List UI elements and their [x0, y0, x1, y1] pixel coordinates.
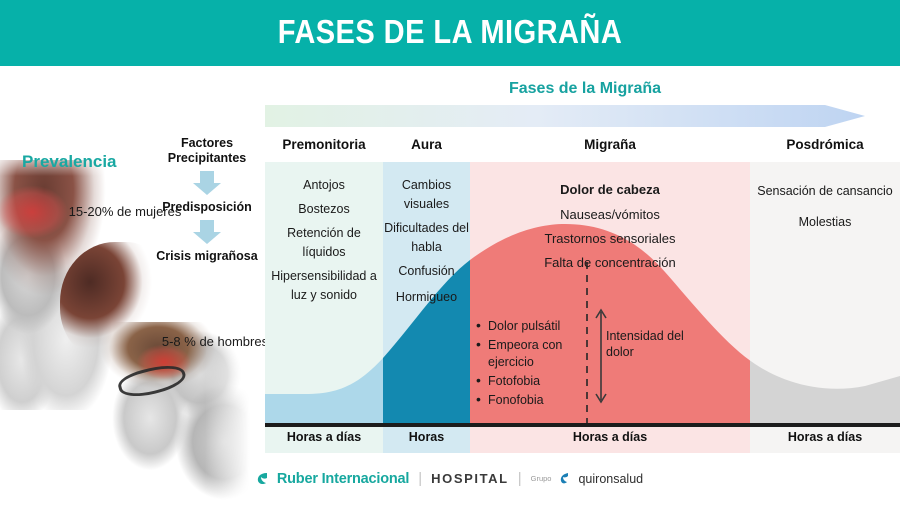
- bullet-fotofobia: Fotofobia: [476, 373, 601, 390]
- flow-step-factores: Factores Precipitantes: [148, 136, 266, 166]
- item-sensacion-cansancio: Sensación de cansancio: [750, 182, 900, 201]
- duration-premonitoria: Horas a días: [265, 430, 383, 444]
- item-nauseas: Nauseas/vómitos: [470, 205, 750, 224]
- phase-items-premonitoria: Antojos Bostezos Retención de líquidos H…: [265, 176, 383, 305]
- phase-bullets-migrana: Dolor pulsátil Empeora con ejercicio Fot…: [476, 318, 601, 411]
- item-dificultades-habla: Dificultades del habla: [379, 219, 474, 257]
- down-arrow-icon: [148, 169, 266, 197]
- duration-aura: Horas: [383, 430, 470, 444]
- logo-divider: |: [418, 470, 422, 487]
- infographic-root: FASES DE LA MIGRAÑA Fases de la Migraña …: [0, 0, 900, 506]
- flow-step-crisis: Crisis migrañosa: [148, 249, 266, 264]
- bullet-empeora-ejercicio: Empeora con ejercicio: [476, 337, 601, 371]
- duration-migrana: Horas a días: [470, 430, 750, 444]
- trigger-flow: Factores Precipitantes Predisposición Cr…: [148, 136, 266, 264]
- phase-header-migrana: Migraña: [470, 137, 750, 152]
- item-hormigueo: Hormigueo: [379, 288, 474, 307]
- down-arrow-icon: [148, 218, 266, 246]
- chart-subtitle: Fases de la Migraña: [265, 80, 900, 98]
- phase-header-aura: Aura: [383, 137, 470, 152]
- logo-ruber-text: Ruber Internacional: [277, 471, 409, 487]
- phase-items-aura: Cambios visuales Dificultades del habla …: [379, 176, 474, 307]
- prevalence-title: Prevalencia: [22, 152, 117, 172]
- footer: Ruber Internacional | HOSPITAL | Grupo q…: [0, 470, 900, 496]
- item-cambios-visuales: Cambios visuales: [379, 176, 474, 214]
- item-dolor-de-cabeza: Dolor de cabeza: [470, 180, 750, 199]
- phase-header-posdromica: Posdrómica: [750, 137, 900, 152]
- hospital-logo: Ruber Internacional | HOSPITAL | Grupo q…: [0, 470, 900, 487]
- phase-items-migrana: Dolor de cabeza Nauseas/vómitos Trastorn…: [470, 180, 750, 272]
- item-falta-concentracion: Falta de concentración: [470, 253, 750, 272]
- logo-hospital-text: HOSPITAL: [431, 471, 509, 486]
- prevalence-men: 5-8 % de hombres: [160, 333, 270, 350]
- item-confusion: Confusión: [379, 262, 474, 281]
- item-antojos: Antojos: [265, 176, 383, 195]
- phase-progression-arrow: [265, 103, 890, 129]
- intensity-label: Intensidad del dolor: [606, 328, 696, 360]
- phase-header-premonitoria: Premonitoria: [265, 137, 383, 152]
- item-bostezos: Bostezos: [265, 200, 383, 219]
- page-title: FASES DE LA MIGRAÑA: [54, 13, 846, 51]
- phase-items-posdromica: Sensación de cansancio Molestias: [750, 182, 900, 232]
- flow-step-predisposicion: Predisposición: [148, 200, 266, 215]
- item-retencion: Retención de líquidos: [265, 224, 383, 262]
- item-molestias: Molestias: [750, 213, 900, 232]
- item-hipersensibilidad: Hipersensibilidad a luz y sonido: [265, 267, 383, 305]
- duration-posdromica: Horas a días: [750, 430, 900, 444]
- logo-divider-2: |: [518, 470, 522, 487]
- bullet-fonofobia: Fonofobia: [476, 392, 601, 409]
- logo-grupo-text: Grupo: [531, 474, 552, 483]
- quiron-leaf-icon: [560, 473, 569, 485]
- item-trastornos: Trastornos sensoriales: [470, 229, 750, 248]
- logo-quironsalud-text: quironsalud: [578, 472, 643, 486]
- leaf-icon: [257, 472, 268, 486]
- bullet-dolor-pulsatil: Dolor pulsátil: [476, 318, 601, 335]
